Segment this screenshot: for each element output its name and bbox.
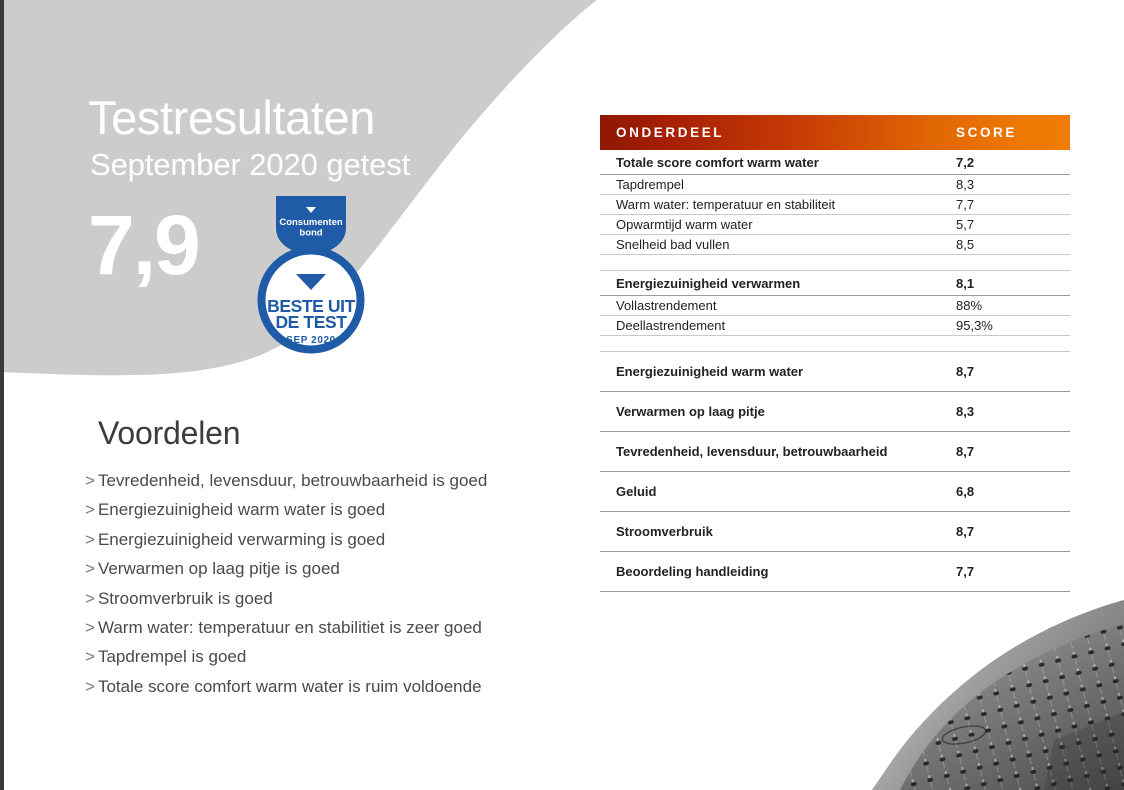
voordelen-item: >Energiezuinigheid warm water is goed — [85, 495, 585, 524]
table-cell-onderdeel: Beoordeling handleiding — [616, 564, 956, 579]
voordelen-item-label: Totale score comfort warm water is ruim … — [98, 677, 482, 696]
voordelen-item: >Warm water: temperatuur en stabilitiet … — [85, 613, 585, 642]
table-cell-score: 8,3 — [956, 404, 974, 419]
bullet-marker-icon: > — [85, 530, 95, 549]
table-cell-score: 6,8 — [956, 484, 974, 499]
table-row: Beoordeling handleiding7,7 — [600, 552, 1070, 592]
bullet-marker-icon: > — [85, 677, 95, 696]
voordelen-item-label: Energiezuinigheid warm water is goed — [98, 500, 385, 519]
table-cell-onderdeel: Totale score comfort warm water — [616, 155, 956, 170]
table-row: Opwarmtijd warm water5,7 — [600, 215, 1070, 235]
table-cell-score: 7,7 — [956, 197, 974, 212]
table-cell-score: 95,3% — [956, 318, 993, 333]
table-cell-onderdeel: Geluid — [616, 484, 956, 499]
badge-award-line2: DE TEST — [275, 312, 347, 332]
table-row: Verwarmen op laag pitje8,3 — [600, 392, 1070, 432]
rain-shower-head-photo — [754, 590, 1124, 790]
voordelen-item: >Tapdrempel is goed — [85, 642, 585, 671]
bullet-marker-icon: > — [85, 559, 95, 578]
table-cell-onderdeel: Opwarmtijd warm water — [616, 217, 956, 232]
overall-score: 7,9 — [88, 203, 199, 287]
table-cell-onderdeel: Deellastrendement — [616, 318, 956, 333]
left-edge-strip — [0, 0, 4, 790]
table-cell-score: 8,7 — [956, 364, 974, 379]
table-row: Deellastrendement95,3% — [600, 316, 1070, 336]
table-cell-onderdeel: Verwarmen op laag pitje — [616, 404, 956, 419]
table-cell-onderdeel: Energiezuinigheid warm water — [616, 364, 956, 379]
voordelen-item: >Verwarmen op laag pitje is goed — [85, 554, 585, 583]
table-row: Energiezuinigheid warm water8,7 — [600, 352, 1070, 392]
voordelen-item-label: Tapdrempel is goed — [98, 647, 246, 666]
voordelen-item: >Stroomverbruik is goed — [85, 584, 585, 613]
table-cell-score: 88% — [956, 298, 982, 313]
page-title: Testresultaten — [88, 94, 375, 141]
table-cell-onderdeel: Tapdrempel — [616, 177, 956, 192]
badge-brand-line1: Consumenten — [279, 217, 343, 228]
table-row: Energiezuinigheid verwarmen8,1 — [600, 271, 1070, 296]
table-row: Stroomverbruik8,7 — [600, 512, 1070, 552]
voordelen-item-label: Energiezuinigheid verwarming is goed — [98, 530, 385, 549]
table-header-row: ONDERDEEL SCORE — [600, 115, 1070, 150]
table-cell-score: 8,5 — [956, 237, 974, 252]
table-row: Warm water: temperatuur en stabiliteit7,… — [600, 195, 1070, 215]
table-row: Vollastrendement88% — [600, 296, 1070, 316]
bullet-marker-icon: > — [85, 618, 95, 637]
page-subtitle: September 2020 getest — [90, 148, 410, 182]
table-cell-score: 5,7 — [956, 217, 974, 232]
table-row-spacer — [600, 336, 1070, 352]
table-header-onderdeel: ONDERDEEL — [616, 125, 956, 140]
consumentenbond-best-test-badge: Consumenten bond BESTE UIT DE TEST SEP 2… — [246, 194, 376, 354]
table-body: Totale score comfort warm water7,2Tapdre… — [600, 150, 1070, 592]
badge-award-date: SEP 2020 — [286, 335, 336, 346]
bullet-marker-icon: > — [85, 471, 95, 490]
table-row: Tapdrempel8,3 — [600, 175, 1070, 195]
voordelen-item: >Totale score comfort warm water is ruim… — [85, 672, 585, 701]
bullet-marker-icon: > — [85, 589, 95, 608]
voordelen-item-label: Stroomverbruik is goed — [98, 589, 273, 608]
voordelen-item: >Tevredenheid, levensduur, betrouwbaarhe… — [85, 466, 585, 495]
test-results-page: Testresultaten September 2020 getest 7,9… — [0, 0, 1124, 790]
voordelen-item-label: Verwarmen op laag pitje is goed — [98, 559, 340, 578]
voordelen-item: >Energiezuinigheid verwarming is goed — [85, 525, 585, 554]
table-row-spacer — [600, 255, 1070, 271]
table-cell-onderdeel: Tevredenheid, levensduur, betrouwbaarhei… — [616, 444, 956, 459]
table-cell-score: 8,7 — [956, 524, 974, 539]
voordelen-heading: Voordelen — [98, 415, 240, 452]
table-row: Tevredenheid, levensduur, betrouwbaarhei… — [600, 432, 1070, 472]
table-row: Snelheid bad vullen8,5 — [600, 235, 1070, 255]
table-cell-score: 8,7 — [956, 444, 974, 459]
voordelen-item-label: Tevredenheid, levensduur, betrouwbaarhei… — [98, 471, 487, 490]
table-cell-score: 7,2 — [956, 155, 974, 170]
table-cell-onderdeel: Energiezuinigheid verwarmen — [616, 276, 956, 291]
table-cell-onderdeel: Warm water: temperatuur en stabiliteit — [616, 197, 956, 212]
table-header-score: SCORE — [956, 125, 1017, 140]
table-cell-score: 7,7 — [956, 564, 974, 579]
left-column: Testresultaten September 2020 getest 7,9… — [0, 0, 600, 790]
bullet-marker-icon: > — [85, 647, 95, 666]
table-cell-score: 8,3 — [956, 177, 974, 192]
voordelen-item-label: Warm water: temperatuur en stabilitiet i… — [98, 618, 482, 637]
table-row: Geluid6,8 — [600, 472, 1070, 512]
table-cell-onderdeel: Snelheid bad vullen — [616, 237, 956, 252]
table-cell-onderdeel: Stroomverbruik — [616, 524, 956, 539]
bullet-marker-icon: > — [85, 500, 95, 519]
table-cell-onderdeel: Vollastrendement — [616, 298, 956, 313]
badge-brand-line2: bond — [299, 228, 322, 239]
score-table: ONDERDEEL SCORE Totale score comfort war… — [600, 115, 1070, 592]
voordelen-list: >Tevredenheid, levensduur, betrouwbaarhe… — [85, 466, 585, 701]
table-row: Totale score comfort warm water7,2 — [600, 150, 1070, 175]
table-cell-score: 8,1 — [956, 276, 974, 291]
